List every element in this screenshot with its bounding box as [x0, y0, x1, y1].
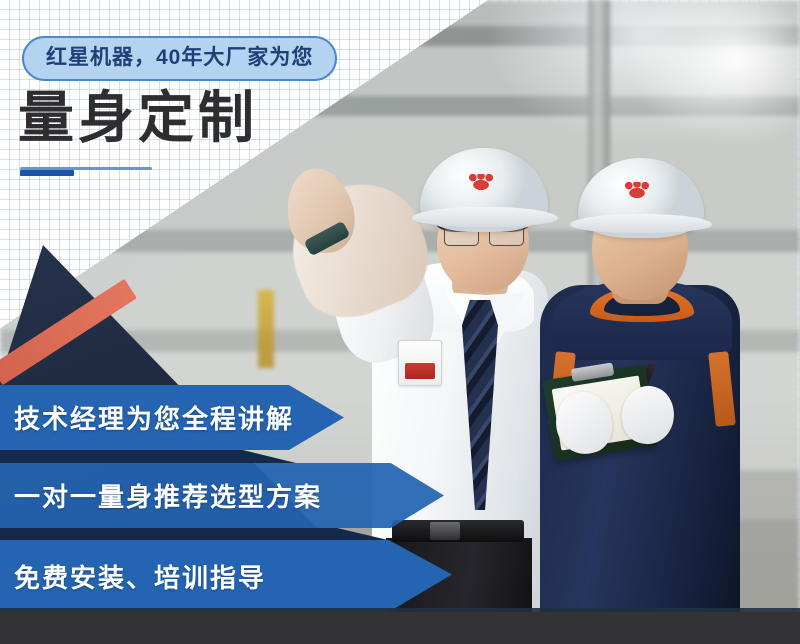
tagline-badge: 红星机器，40年大厂家为您	[22, 36, 337, 81]
promo-banner: 红星机器，40年大厂家为您 量身定制 技术经理为您全程讲解 一对一量身推荐选型方…	[0, 0, 800, 644]
engineer-belt-buckle	[430, 522, 460, 540]
engineer-chest-badge	[398, 340, 442, 386]
yellow-post	[258, 290, 274, 368]
engineer-hard-hat-brim	[412, 207, 558, 227]
feature-banner-3: 免费安装、培训指导	[0, 540, 452, 612]
feature-banner-2: 一对一量身推荐选型方案	[0, 463, 444, 528]
helmet-logo-icon	[620, 182, 654, 202]
feature-banner-2-shadow	[0, 528, 392, 541]
page-title: 量身定制	[18, 90, 258, 146]
feature-banner-1: 技术经理为您全程讲解	[0, 385, 344, 450]
footer-strip	[0, 612, 800, 644]
title-underline-accent	[20, 170, 74, 176]
helmet-logo-icon	[464, 174, 498, 194]
worker-hard-hat-brim	[570, 214, 712, 233]
